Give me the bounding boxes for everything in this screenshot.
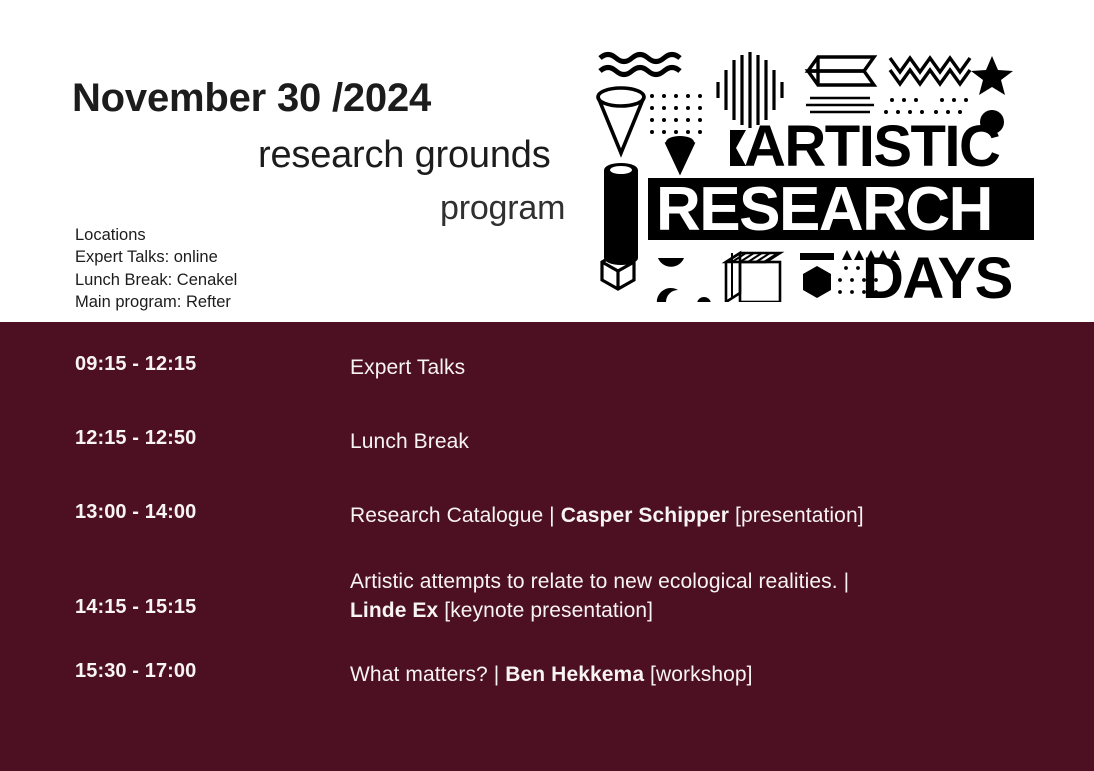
header-panel: November 30 /2024 research grounds progr… (0, 0, 1094, 322)
logo-artwork: ARTISTIC RESEARCH DAYS (594, 50, 1034, 302)
location-line-expert-talks: Expert Talks: online (75, 246, 237, 268)
zigzag-icon (890, 58, 970, 84)
cylinder-icon (604, 163, 638, 265)
location-line-lunch-break: Lunch Break: Cenakel (75, 269, 237, 291)
schedule-row: 15:30 - 17:00 What matters? | Ben Hekkem… (0, 660, 1094, 689)
schedule-row-time: 12:15 - 12:50 (0, 427, 350, 450)
schedule-row-time: 15:30 - 17:00 (0, 660, 350, 683)
schedule-row-description: What matters? | Ben Hekkema [workshop] (350, 660, 1094, 689)
schedule-row: 12:15 - 12:50 Lunch Break (0, 427, 1094, 456)
schedule-row-time: 14:15 - 15:15 (0, 567, 350, 619)
schedule-row-description: Expert Talks (350, 353, 1094, 382)
small-cone-icon (666, 136, 694, 172)
bar-icon (800, 253, 834, 260)
schedule-row: 13:00 - 14:00 Research Catalogue | Caspe… (0, 501, 1094, 530)
hatched-cube-icon (726, 253, 780, 302)
event-subtitle: research grounds (258, 134, 551, 177)
arc-down-icon (658, 258, 684, 267)
title-block: November 30 /2024 research grounds progr… (0, 0, 600, 322)
schedule-row-description: Artistic attempts to relate to new ecolo… (350, 567, 1094, 625)
event-kind: program (440, 189, 565, 228)
schedule-row-description: Research Catalogue | Casper Schipper [pr… (350, 501, 1094, 530)
crescent-icon (657, 288, 678, 302)
hexagon-icon (803, 266, 831, 298)
small-dot-icon (697, 297, 711, 302)
location-line-main-program: Main program: Refter (75, 291, 237, 313)
schedule-panel: 09:15 - 12:15 Expert Talks 12:15 - 12:50… (0, 322, 1094, 771)
locations-block: Locations Expert Talks: online Lunch Bre… (75, 224, 237, 313)
wave-lines-icon (600, 55, 680, 75)
artistic-research-days-logo: ARTISTIC RESEARCH DAYS (594, 50, 1034, 302)
star-icon (971, 56, 1013, 95)
schedule-row-description: Lunch Break (350, 427, 1094, 456)
dot-cluster-icon (884, 98, 968, 114)
event-date: November 30 /2024 (72, 76, 431, 121)
schedule-row-time: 13:00 - 14:00 (0, 501, 350, 524)
logo-line-2: RESEARCH (656, 175, 992, 244)
schedule-row: 14:15 - 15:15 Artistic attempts to relat… (0, 567, 1094, 625)
prism-outline-icon (808, 57, 874, 85)
triple-line-icon (806, 98, 874, 112)
dot-grid-icon (650, 94, 702, 134)
cone-outline-icon (598, 88, 644, 153)
logo-line-1: ARTISTIC (744, 114, 1000, 179)
locations-heading: Locations (75, 224, 237, 246)
schedule-row: 09:15 - 12:15 Expert Talks (0, 353, 1094, 382)
schedule-row-time: 09:15 - 12:15 (0, 353, 350, 376)
